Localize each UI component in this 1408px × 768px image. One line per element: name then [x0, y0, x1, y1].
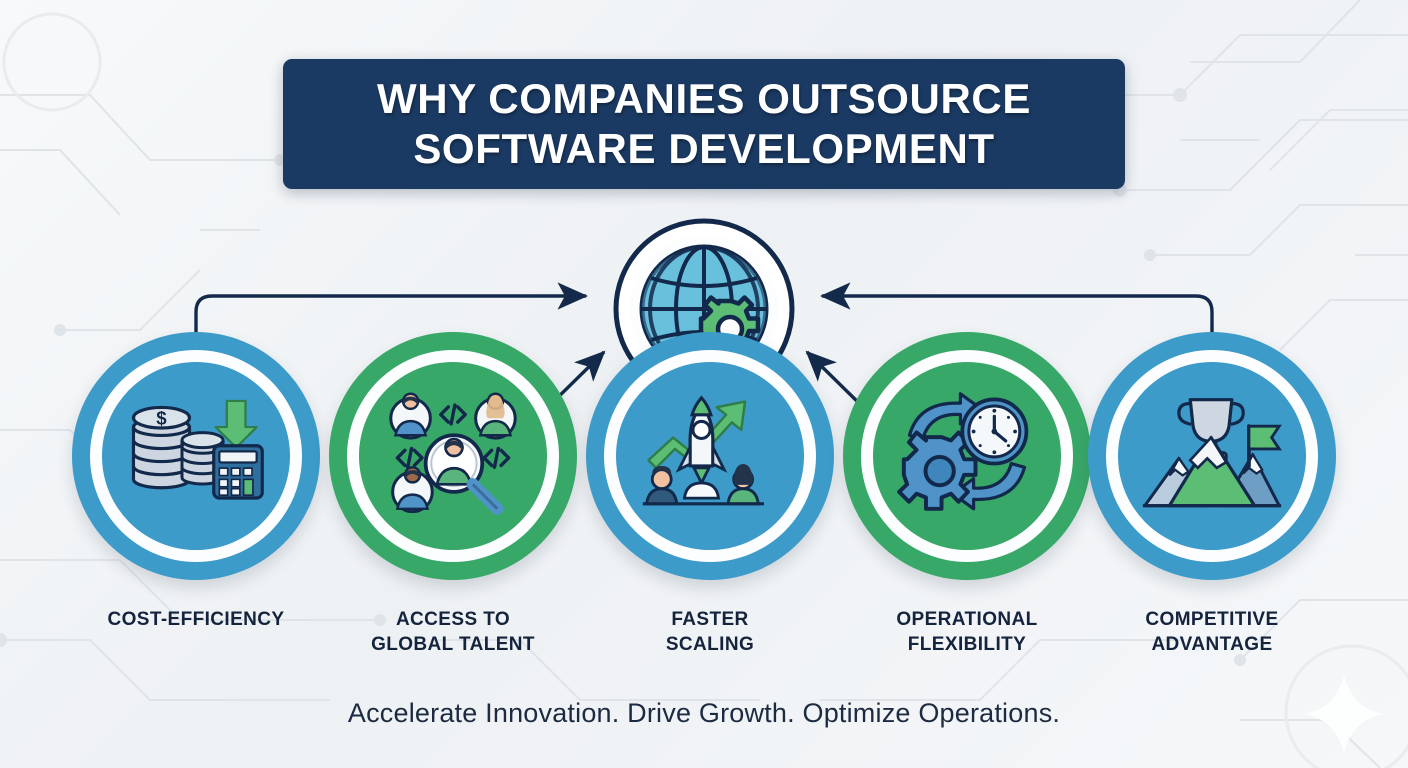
tagline: Accelerate Innovation. Drive Growth. Opt…	[0, 698, 1408, 729]
calculator-icon	[214, 446, 263, 498]
label-line-1: COMPETITIVE	[1082, 607, 1342, 632]
label-competitive-advantage: COMPETITIVE ADVANTAGE	[1082, 607, 1342, 657]
pillar-cost-efficiency[interactable]: $	[72, 332, 320, 580]
coins-calculator-arrow-icon: $	[126, 395, 266, 517]
label-cost-efficiency: COST-EFFICIENCY	[66, 607, 326, 632]
label-line-1: FASTER	[580, 607, 840, 632]
label-line-1: OPERATIONAL	[837, 607, 1097, 632]
clock-icon	[962, 399, 1026, 463]
pillar-faster-scaling[interactable]	[586, 332, 834, 580]
label-operational-flexibility: OPERATIONAL FLEXIBILITY	[837, 607, 1097, 657]
pillar-competitive-advantage[interactable]	[1088, 332, 1336, 580]
pillar-inner-disc	[1118, 362, 1306, 550]
rocket-growth-icon	[639, 392, 781, 520]
pillar-inner-disc: $	[102, 362, 290, 550]
svg-text:$: $	[156, 407, 167, 428]
pillar-inner-disc	[616, 362, 804, 550]
trophy-mountain-flag-icon	[1141, 392, 1283, 520]
label-line-2: ADVANTAGE	[1082, 632, 1342, 657]
label-faster-scaling: FASTER SCALING	[580, 607, 840, 657]
gear-clock-cycle-icon	[896, 390, 1038, 522]
label-access-to-global-talent: ACCESS TO GLOBAL TALENT	[323, 607, 583, 657]
label-line-2: FLEXIBILITY	[837, 632, 1097, 657]
infographic-canvas: WHY COMPANIES OUTSOURCE SOFTWARE DEVELOP…	[0, 0, 1408, 768]
label-line-1: COST-EFFICIENCY	[66, 607, 326, 632]
avatar-icon	[476, 394, 516, 438]
avatar-icon	[391, 394, 431, 438]
label-line-1: ACCESS TO	[323, 607, 583, 632]
label-line-2: GLOBAL TALENT	[323, 632, 583, 657]
talent-search-icon	[382, 390, 524, 522]
pillar-access-to-global-talent[interactable]	[329, 332, 577, 580]
person-icon	[728, 464, 758, 504]
label-line-2: SCALING	[580, 632, 840, 657]
person-icon	[647, 466, 677, 504]
pillar-inner-disc	[359, 362, 547, 550]
magnifier-icon	[426, 435, 498, 509]
pillar-operational-flexibility[interactable]	[843, 332, 1091, 580]
pillar-inner-disc	[873, 362, 1061, 550]
